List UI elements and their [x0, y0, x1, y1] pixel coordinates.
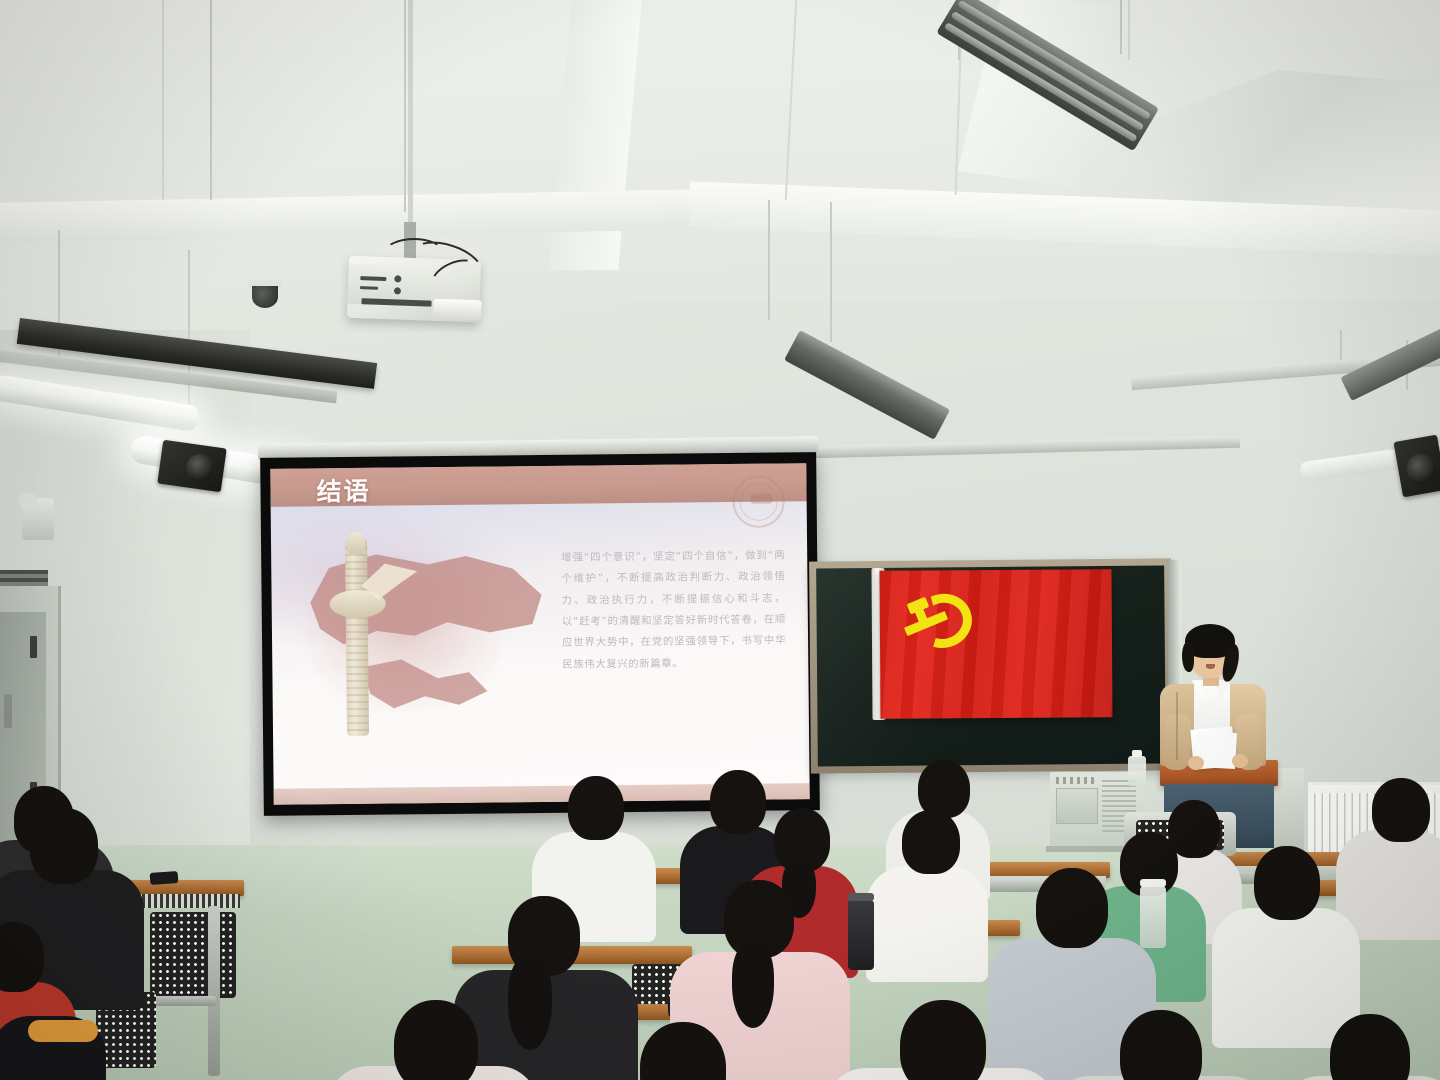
- projector-port: [361, 298, 431, 306]
- podium-side-panel: [1274, 768, 1304, 854]
- student-head: [902, 810, 960, 874]
- student-head: [710, 770, 766, 834]
- projected-slide: 结语 增强“四个意识”，坚定“四个自信”，做到“两个维护”，不断提高政治判断力、…: [270, 463, 809, 805]
- hanger-rod: [830, 202, 832, 342]
- emergency-light: [22, 498, 54, 540]
- projector-lens: [433, 299, 482, 321]
- wall-speaker-left: [157, 440, 227, 492]
- hanger-rod: [188, 250, 190, 420]
- hanger-rod: [1120, 0, 1122, 54]
- student-head: [568, 776, 624, 840]
- student-ponytail: [508, 956, 552, 1050]
- student-head: [1036, 868, 1108, 948]
- presenter-hand: [1188, 756, 1204, 770]
- classroom-photo: 结语 增强“四个意识”，坚定“四个自信”，做到“两个维护”，不断提高政治判断力、…: [0, 0, 1440, 1080]
- student-body: [1212, 908, 1360, 1048]
- hammer-and-sickle-icon: [902, 592, 958, 640]
- water-bottle: [848, 900, 874, 970]
- presenter-mouth: [1206, 664, 1215, 669]
- student-head: [1168, 800, 1220, 858]
- presenter: [1148, 628, 1276, 770]
- huabiao-cap: [347, 532, 365, 554]
- projector-port: [360, 286, 378, 290]
- slide-flag-artwork: [289, 532, 551, 745]
- water-bottle: [1128, 756, 1146, 786]
- student-head: [900, 1000, 986, 1080]
- ceiling-seam: [162, 0, 164, 200]
- chair-seat-rail: [146, 996, 216, 1006]
- presenter-hair-side: [1182, 642, 1194, 672]
- projector-mount-pole: [408, 0, 413, 230]
- hanger-rod: [210, 0, 212, 200]
- chair-leg: [208, 906, 220, 1076]
- cabinet-door[interactable]: [1056, 788, 1098, 824]
- slide-body-text: 增强“四个意识”，坚定“四个自信”，做到“两个维护”，不断提高政治判断力、政治领…: [561, 545, 786, 675]
- presenter-jacket-seam: [1176, 692, 1178, 760]
- student-head: [30, 808, 98, 884]
- student-head: [1372, 778, 1430, 842]
- huabiao-column-rings: [345, 540, 369, 736]
- slide-emblem-mark-icon: [751, 494, 773, 504]
- bottle-cap: [1140, 879, 1166, 887]
- emergency-light-head: [18, 493, 38, 509]
- student-body: [866, 866, 988, 982]
- smartphone[interactable]: [150, 871, 179, 885]
- ceiling-seam: [1128, 0, 1130, 60]
- student-head: [1254, 846, 1320, 920]
- student-body-stripe: [28, 1020, 98, 1042]
- hanger-rod: [404, 0, 406, 212]
- door-hinge: [30, 636, 37, 658]
- speaker-cone: [184, 452, 216, 484]
- presenter-hand: [1232, 754, 1248, 768]
- student-head: [394, 1000, 478, 1080]
- slide-title: 结语: [316, 472, 370, 509]
- water-bottle: [1140, 886, 1166, 948]
- chair-back: [150, 912, 236, 998]
- speaker-cone: [1404, 451, 1439, 486]
- projector-port: [360, 276, 386, 281]
- student-ponytail: [732, 942, 774, 1028]
- cabinet-controls[interactable]: [1056, 777, 1096, 784]
- bottle-cap: [848, 893, 874, 901]
- ceiling-dome-camera: [252, 286, 278, 308]
- hanger-rod: [768, 200, 770, 320]
- door-handle[interactable]: [4, 694, 12, 728]
